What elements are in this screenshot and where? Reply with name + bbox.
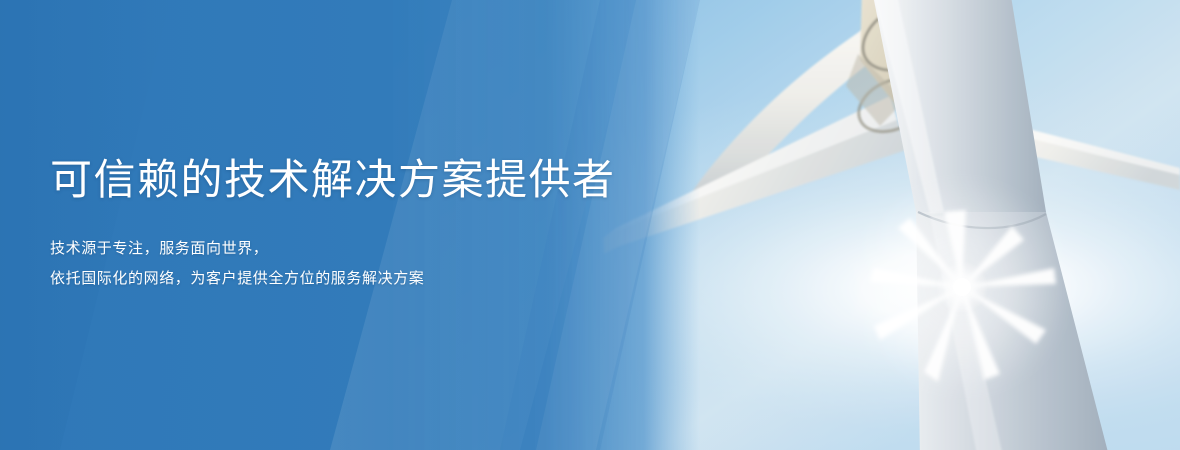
photo-haze [600, 0, 1180, 450]
banner-headline: 可信赖的技术解决方案提供者 [50, 156, 610, 203]
banner-subtitle-line-1: 技术源于专注，服务面向世界， [50, 234, 610, 264]
banner-subtitle: 技术源于专注，服务面向世界， 依托国际化的网络，为客户提供全方位的服务解决方案 [50, 234, 610, 294]
banner-subtitle-line-2: 依托国际化的网络，为客户提供全方位的服务解决方案 [50, 264, 610, 294]
hero-banner: 可信赖的技术解决方案提供者 技术源于专注，服务面向世界， 依托国际化的网络，为客… [0, 0, 1180, 450]
banner-copy: 可信赖的技术解决方案提供者 技术源于专注，服务面向世界， 依托国际化的网络，为客… [50, 0, 610, 450]
